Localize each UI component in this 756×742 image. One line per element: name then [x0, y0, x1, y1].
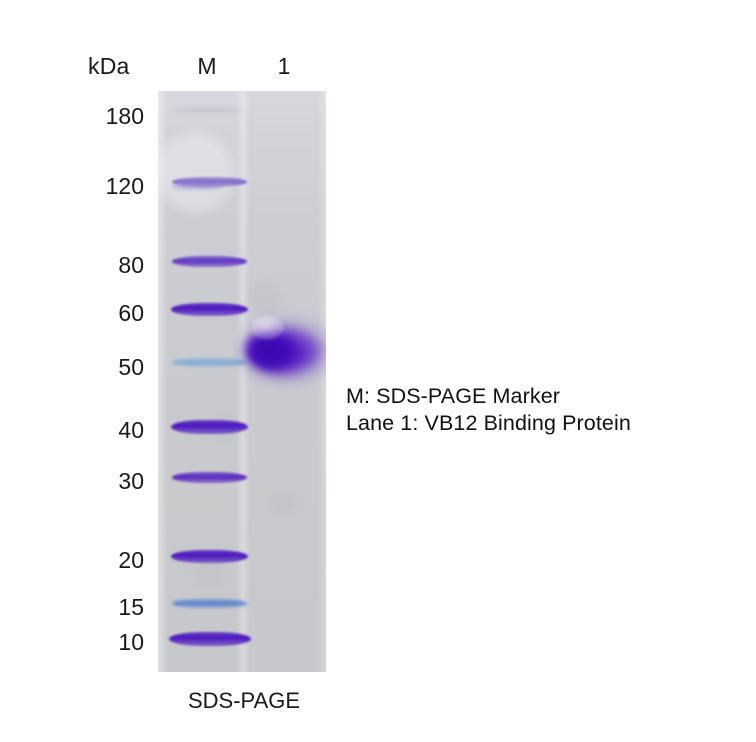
mw-label-120: 120 [80, 173, 144, 200]
mw-label-80: 80 [80, 252, 144, 279]
marker-band-180 [172, 108, 244, 112]
marker-band-120-tail [172, 184, 224, 189]
lane-header-sample-1: 1 [274, 53, 294, 80]
mw-label-40: 40 [80, 417, 144, 444]
gel-right-edge-shading [317, 91, 326, 672]
mw-label-50: 50 [80, 354, 144, 381]
mw-label-10: 10 [80, 629, 144, 656]
mw-label-15: 15 [80, 594, 144, 621]
mw-label-30: 30 [80, 468, 144, 495]
legend-line-lane-1: Lane 1: VB12 Binding Protein [346, 411, 631, 436]
gel-image [158, 91, 326, 672]
sample-band-core [251, 334, 295, 368]
marker-band-40 [171, 420, 248, 434]
mw-label-60: 60 [80, 300, 144, 327]
marker-band-80 [172, 256, 247, 267]
marker-band-10 [169, 632, 251, 646]
marker-band-30 [172, 472, 247, 483]
figure-caption: SDS-PAGE [188, 688, 300, 714]
mw-label-20: 20 [80, 547, 144, 574]
marker-band-50 [172, 358, 247, 367]
marker-band-20 [171, 550, 248, 563]
marker-band-60 [171, 303, 248, 316]
lane-header-marker: M [195, 53, 219, 80]
gel-left-edge-shading [158, 91, 167, 672]
sample-well-bubble [250, 315, 284, 339]
legend-line-marker: M: SDS-PAGE Marker [346, 384, 560, 409]
sds-page-figure: kDa M 1 180 120 80 60 50 40 30 20 15 10 [0, 0, 756, 742]
kda-unit-label: kDa [88, 53, 130, 80]
mw-label-180: 180 [80, 103, 144, 130]
marker-band-15 [172, 599, 247, 608]
